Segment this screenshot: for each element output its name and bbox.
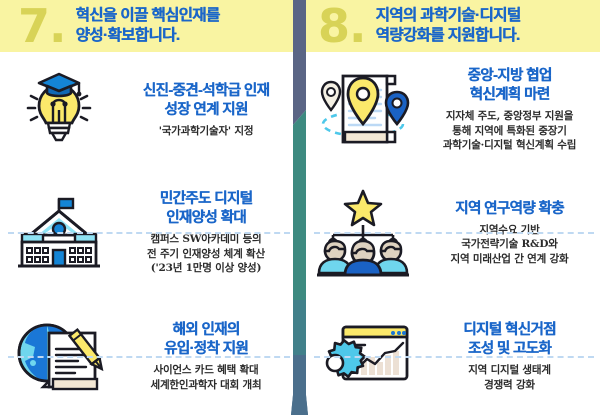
column-section-7: 신진-중견-석학급 인재 성장 연계 지원 '국가과학기술자' 지정 <box>0 52 300 415</box>
item-body-line: 경쟁력 강화 <box>425 378 594 393</box>
item-body-line: 지역수요 기반 <box>425 223 594 238</box>
item-body-line: 캠퍼스 SW아카데미 등의 <box>118 232 294 247</box>
header-section-7: 7. 혁신을 이끌 핵심인재를 양성·확보합니다. <box>0 0 300 52</box>
row-separator <box>314 356 594 358</box>
item-title: 디지털 혁신거점 조성 및 고도화 <box>425 321 594 359</box>
section-number-7: 7. <box>18 3 65 49</box>
row-separator <box>8 232 290 234</box>
item-title-line1: 디지털 혁신거점 <box>463 322 556 338</box>
infographic-page: 7. 혁신을 이끌 핵심인재를 양성·확보합니다. 8. 지역의 과학기술·디지… <box>0 0 600 415</box>
item-row[interactable]: 해외 인재의 유입·정착 지원 사이언스 카드 혜택 확대 세계한인과학자 대회… <box>0 298 300 415</box>
item-title-line1: 신진-중견-석학급 인재 <box>143 83 270 99</box>
item-text: 중앙-지방 협업 혁신계획 마련 지자체 주도, 중앙정부 지원을 통해 지역에… <box>425 67 600 153</box>
item-title: 민간주도 디지털 인재양성 확대 <box>118 190 294 228</box>
item-body: 캠퍼스 SW아카데미 등의 전 주기 인재양성 체계 확산 ('23년 1만명 … <box>118 232 294 276</box>
section-number-8: 8. <box>318 3 365 49</box>
column-section-8: 중앙-지방 협업 혁신계획 마련 지자체 주도, 중앙정부 지원을 통해 지역에… <box>300 52 600 415</box>
section-heading-7: 혁신을 이끌 핵심인재를 양성·확보합니다. <box>75 6 219 46</box>
item-text: 신진-중견-석학급 인재 성장 연계 지원 '국가과학기술자' 지정 <box>118 82 300 139</box>
item-body-line: 사이언스 카드 혜택 확대 <box>118 363 294 378</box>
item-row[interactable]: 중앙-지방 협업 혁신계획 마련 지자체 주도, 중앙정부 지원을 통해 지역에… <box>300 52 600 168</box>
section-heading-7-line2: 양성·확보합니다. <box>75 26 219 46</box>
item-body-line: ('23년 1만명 이상 양성) <box>118 261 294 276</box>
section-heading-8-line1: 지역의 과학기술·디지털 <box>375 7 520 24</box>
item-title: 지역 연구역량 확충 <box>425 200 594 219</box>
item-body-line: 지자체 주도, 중앙정부 지원을 <box>425 109 594 124</box>
item-body-line: 세계한인과학자 대회 개최 <box>118 378 294 393</box>
item-row[interactable]: 민간주도 디지털 인재양성 확대 캠퍼스 SW아카데미 등의 전 주기 인재양성… <box>0 168 300 298</box>
section-heading-7-line1: 혁신을 이끌 핵심인재를 <box>75 7 219 24</box>
row-separator <box>314 232 594 234</box>
item-body: 지역수요 기반 국가전략기술 R&D와 지역 미래산업 간 연계 강화 <box>425 223 594 267</box>
item-title-line2: 혁신계획 마련 <box>425 86 594 105</box>
item-body: 지자체 주도, 중앙정부 지원을 통해 지역에 특화된 중장기 과학기술·디지털… <box>425 109 594 153</box>
item-title-line2: 성장 연계 지원 <box>118 101 294 120</box>
item-body: 사이언스 카드 혜택 확대 세계한인과학자 대회 개최 <box>118 363 294 392</box>
item-title: 중앙-지방 협업 혁신계획 마련 <box>425 67 594 105</box>
item-title: 신진-중견-석학급 인재 성장 연계 지원 <box>118 82 294 120</box>
item-title-line1: 민간주도 디지털 <box>160 191 253 207</box>
item-body-line: 국가전략기술 R&D와 <box>425 237 594 252</box>
item-body-line: 지역 디지털 생태계 <box>425 363 594 378</box>
item-title-line1: 지역 연구역량 확충 <box>455 201 564 217</box>
item-title: 해외 인재의 유입·정착 지원 <box>118 321 294 359</box>
item-body-line: '국가과학기술자' 지정 <box>118 124 294 139</box>
item-body-line: 전 주기 인재양성 체계 확산 <box>118 247 294 262</box>
scroll-map-pins-icon <box>300 66 425 154</box>
item-row[interactable]: 지역 연구역량 확충 지역수요 기반 국가전략기술 R&D와 지역 미래산업 간… <box>300 168 600 298</box>
section-heading-8-line2: 역량강화를 지원합니다. <box>375 26 520 46</box>
lightbulb-graduation-cap-icon <box>0 70 118 150</box>
item-body: '국가과학기술자' 지정 <box>118 124 294 139</box>
header-section-8: 8. 지역의 과학기술·디지털 역량강화를 지원합니다. <box>300 0 600 52</box>
content-columns: 신진-중견-석학급 인재 성장 연계 지원 '국가과학기술자' 지정 <box>0 52 600 415</box>
item-row[interactable]: 신진-중견-석학급 인재 성장 연계 지원 '국가과학기술자' 지정 <box>0 52 300 168</box>
item-body-line: 지역 미래산업 간 연계 강화 <box>425 252 594 267</box>
item-body: 지역 디지털 생태계 경쟁력 강화 <box>425 363 594 392</box>
item-title-line2: 인재양성 확대 <box>118 209 294 228</box>
row-separator <box>8 356 290 358</box>
item-row[interactable]: 디지털 혁신거점 조성 및 고도화 지역 디지털 생태계 경쟁력 강화 <box>300 298 600 415</box>
item-body-line: 과학기술·디지털 혁신계획 수립 <box>425 138 594 153</box>
item-title-line1: 해외 인재의 <box>172 322 239 338</box>
section-heading-8: 지역의 과학기술·디지털 역량강화를 지원합니다. <box>375 6 520 46</box>
item-body-line: 통해 지역에 특화된 중장기 <box>425 124 594 139</box>
item-title-line1: 중앙-지방 협업 <box>467 68 551 84</box>
